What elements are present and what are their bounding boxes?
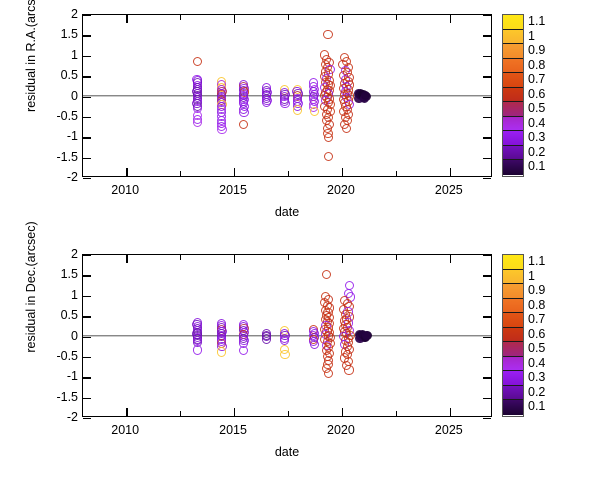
- colorbar-band: [503, 146, 523, 161]
- y-tick-label: -0.5: [6, 350, 78, 362]
- x-minor-tick: [180, 15, 181, 20]
- x-axis-tick-labels-ra: 2010201520202025: [82, 183, 492, 205]
- y-tick-label: -2: [6, 171, 78, 183]
- x-tick: [126, 255, 127, 263]
- x-tick-label: 2020: [311, 423, 371, 437]
- scatter-point: [310, 340, 319, 349]
- colorbar-tick-label: 0.1: [528, 400, 545, 412]
- x-tick: [450, 15, 451, 23]
- colorbar-tick-labels-dec: 1.110.90.80.70.60.50.40.30.20.1: [528, 254, 594, 417]
- colorbar-tick-label: 0.3: [528, 371, 545, 383]
- colorbar-band: [503, 117, 523, 132]
- y-tick: [83, 56, 91, 57]
- x-tick: [126, 168, 127, 176]
- colorbar-tick-label: 0.7: [528, 313, 545, 325]
- x-tick: [450, 408, 451, 416]
- scatter-point: [324, 369, 333, 378]
- x-axis-tick-labels-dec: 2010201520202025: [82, 423, 492, 445]
- colorbar-band: [503, 357, 523, 372]
- y-tick: [83, 357, 91, 358]
- scatter-point: [361, 91, 370, 100]
- y-tick: [83, 337, 91, 338]
- y-tick: [483, 137, 491, 138]
- y-tick-label: -1.5: [6, 391, 78, 403]
- x-tick-label: 2010: [95, 183, 155, 197]
- y-axis-title-ra: residual in R.A.(arcsec): [24, 0, 38, 132]
- y-tick: [83, 117, 91, 118]
- x-tick: [342, 15, 343, 23]
- y-tick-label: -1.5: [6, 151, 78, 163]
- x-tick: [342, 255, 343, 263]
- y-tick: [83, 377, 91, 378]
- colorbar-tick-label: 0.4: [528, 357, 545, 369]
- scatter-point: [280, 350, 289, 359]
- colorbar-band: [503, 59, 523, 74]
- colorbar-band: [503, 371, 523, 386]
- y-tick: [483, 117, 491, 118]
- x-tick: [342, 168, 343, 176]
- y-tick: [483, 357, 491, 358]
- x-tick: [234, 255, 235, 263]
- scatter-point: [342, 124, 351, 133]
- y-tick-label: -0.5: [6, 110, 78, 122]
- y-tick: [483, 275, 491, 276]
- x-minor-tick: [180, 171, 181, 176]
- y-tick-label: 0.5: [6, 309, 78, 321]
- scatter-points-ra: [83, 15, 491, 176]
- y-tick: [483, 255, 491, 256]
- scatter-point: [193, 345, 202, 354]
- y-tick: [483, 97, 491, 98]
- x-tick: [234, 15, 235, 23]
- colorbar-band: [503, 299, 523, 314]
- y-axis-tick-labels-ra: 21.510.50-0.5-1-1.5-2: [0, 14, 78, 177]
- y-tick-label: 2: [6, 248, 78, 260]
- colorbar-tick-label: 0.2: [528, 386, 545, 398]
- colorbar-tick-label: 0.6: [528, 328, 545, 340]
- y-tick: [483, 296, 491, 297]
- colorbar-band: [503, 131, 523, 146]
- x-tick-label: 2025: [419, 183, 479, 197]
- scatter-points-dec: [83, 255, 491, 416]
- scatter-point: [322, 270, 331, 279]
- y-tick: [83, 316, 91, 317]
- colorbar-tick-label: 0.7: [528, 73, 545, 85]
- colorbar-tick-label: 0.1: [528, 160, 545, 172]
- colorbar-band: [503, 255, 523, 270]
- scatter-point: [217, 347, 226, 356]
- colorbar-band: [503, 30, 523, 45]
- x-minor-tick: [180, 255, 181, 260]
- scatter-point: [280, 99, 289, 108]
- y-tick: [83, 398, 91, 399]
- colorbar-gradient-ra: [502, 14, 524, 177]
- colorbar-tick-label: 0.2: [528, 146, 545, 158]
- colorbar-band: [503, 73, 523, 88]
- colorbar-tick-label: 0.3: [528, 131, 545, 143]
- colorbar-tick-label: 0.8: [528, 59, 545, 71]
- colorbar-dec: 1.110.90.80.70.60.50.40.30.20.1: [502, 254, 596, 417]
- scatter-point: [262, 334, 271, 343]
- plot-frame-ra: [82, 14, 492, 177]
- colorbar-tick-label: 0.5: [528, 342, 545, 354]
- x-minor-tick: [396, 15, 397, 20]
- colorbar-tick-label: 0.5: [528, 102, 545, 114]
- colorbar-ra: 1.110.90.80.70.60.50.40.30.20.1: [502, 14, 596, 177]
- x-minor-tick: [288, 15, 289, 20]
- y-tick: [83, 255, 91, 256]
- y-tick: [83, 97, 91, 98]
- colorbar-band: [503, 313, 523, 328]
- colorbar-tick-label: 1.1: [528, 15, 545, 27]
- x-tick: [450, 168, 451, 176]
- y-tick: [483, 35, 491, 36]
- y-tick: [83, 178, 91, 179]
- colorbar-band: [503, 44, 523, 59]
- scatter-point: [239, 120, 248, 129]
- scatter-point: [217, 125, 226, 134]
- x-tick: [234, 168, 235, 176]
- y-tick: [483, 377, 491, 378]
- colorbar-tick-label: 0.9: [528, 44, 545, 56]
- colorbar-tick-label: 0.4: [528, 117, 545, 129]
- x-tick-label: 2015: [203, 423, 263, 437]
- x-minor-tick: [180, 411, 181, 416]
- y-tick: [83, 418, 91, 419]
- scatter-point: [324, 133, 333, 142]
- y-tick: [483, 316, 491, 317]
- scatter-point: [323, 30, 332, 39]
- y-tick: [83, 275, 91, 276]
- x-minor-tick: [288, 411, 289, 416]
- x-minor-tick: [288, 255, 289, 260]
- y-tick: [83, 137, 91, 138]
- y-tick-label: 0: [6, 330, 78, 342]
- colorbar-gradient-dec: [502, 254, 524, 417]
- scatter-point: [310, 107, 319, 116]
- residuals-figure: 21.510.50-0.5-1-1.5-2 residual in R.A.(a…: [0, 0, 600, 480]
- scatter-point: [239, 108, 248, 117]
- colorbar-band: [503, 400, 523, 415]
- y-tick: [83, 158, 91, 159]
- y-axis-tick-labels-dec: 21.510.50-0.5-1-1.5-2: [0, 254, 78, 417]
- scatter-point: [324, 152, 333, 161]
- colorbar-tick-label: 1.1: [528, 255, 545, 267]
- y-tick-label: -1: [6, 130, 78, 142]
- y-tick: [83, 15, 91, 16]
- colorbar-band: [503, 88, 523, 103]
- y-tick-label: 1.5: [6, 28, 78, 40]
- x-tick-label: 2025: [419, 423, 479, 437]
- colorbar-tick-labels-ra: 1.110.90.80.70.60.50.40.30.20.1: [528, 14, 594, 177]
- y-tick-label: -1: [6, 370, 78, 382]
- x-tick-label: 2015: [203, 183, 263, 197]
- x-axis-title-dec: date: [82, 445, 492, 459]
- colorbar-band: [503, 270, 523, 285]
- scatter-point: [262, 98, 271, 107]
- y-tick-label: 0: [6, 90, 78, 102]
- x-minor-tick: [396, 171, 397, 176]
- colorbar-tick-label: 0.8: [528, 299, 545, 311]
- x-axis-title-ra: date: [82, 205, 492, 219]
- colorbar-band: [503, 15, 523, 30]
- y-tick-label: -2: [6, 411, 78, 423]
- x-tick: [342, 408, 343, 416]
- y-tick-label: 1: [6, 289, 78, 301]
- colorbar-band: [503, 102, 523, 117]
- x-minor-tick: [396, 411, 397, 416]
- y-tick: [483, 418, 491, 419]
- colorbar-tick-label: 1: [528, 270, 535, 282]
- scatter-point: [293, 105, 302, 114]
- scatter-point: [344, 365, 353, 374]
- x-tick: [126, 408, 127, 416]
- y-axis-title-dec: residual in Dec.(arcsec): [24, 202, 38, 372]
- colorbar-band: [503, 284, 523, 299]
- colorbar-tick-label: 0.9: [528, 284, 545, 296]
- x-tick: [450, 255, 451, 263]
- x-tick-label: 2010: [95, 423, 155, 437]
- y-tick: [483, 76, 491, 77]
- scatter-point: [193, 118, 202, 127]
- y-tick: [83, 296, 91, 297]
- scatter-point: [280, 336, 289, 345]
- colorbar-band: [503, 328, 523, 343]
- colorbar-band: [503, 386, 523, 401]
- colorbar-band: [503, 160, 523, 175]
- residual-dec-panel: 21.510.50-0.5-1-1.5-2 residual in Dec.(a…: [0, 240, 600, 480]
- y-tick: [483, 337, 491, 338]
- y-tick-label: 1.5: [6, 268, 78, 280]
- y-tick: [483, 56, 491, 57]
- x-tick: [234, 408, 235, 416]
- y-tick: [483, 178, 491, 179]
- x-minor-tick: [288, 171, 289, 176]
- y-tick: [83, 35, 91, 36]
- x-tick-label: 2020: [311, 183, 371, 197]
- x-tick: [126, 15, 127, 23]
- y-tick: [483, 158, 491, 159]
- y-tick-label: 1: [6, 49, 78, 61]
- plot-frame-dec: [82, 254, 492, 417]
- y-tick: [483, 398, 491, 399]
- y-tick: [483, 15, 491, 16]
- y-tick: [83, 76, 91, 77]
- colorbar-band: [503, 342, 523, 357]
- x-minor-tick: [396, 255, 397, 260]
- residual-ra-panel: 21.510.50-0.5-1-1.5-2 residual in R.A.(a…: [0, 0, 600, 240]
- y-tick-label: 2: [6, 8, 78, 20]
- scatter-point: [239, 346, 248, 355]
- y-tick-label: 0.5: [6, 69, 78, 81]
- colorbar-tick-label: 1: [528, 30, 535, 42]
- colorbar-tick-label: 0.6: [528, 88, 545, 100]
- scatter-point: [193, 57, 202, 66]
